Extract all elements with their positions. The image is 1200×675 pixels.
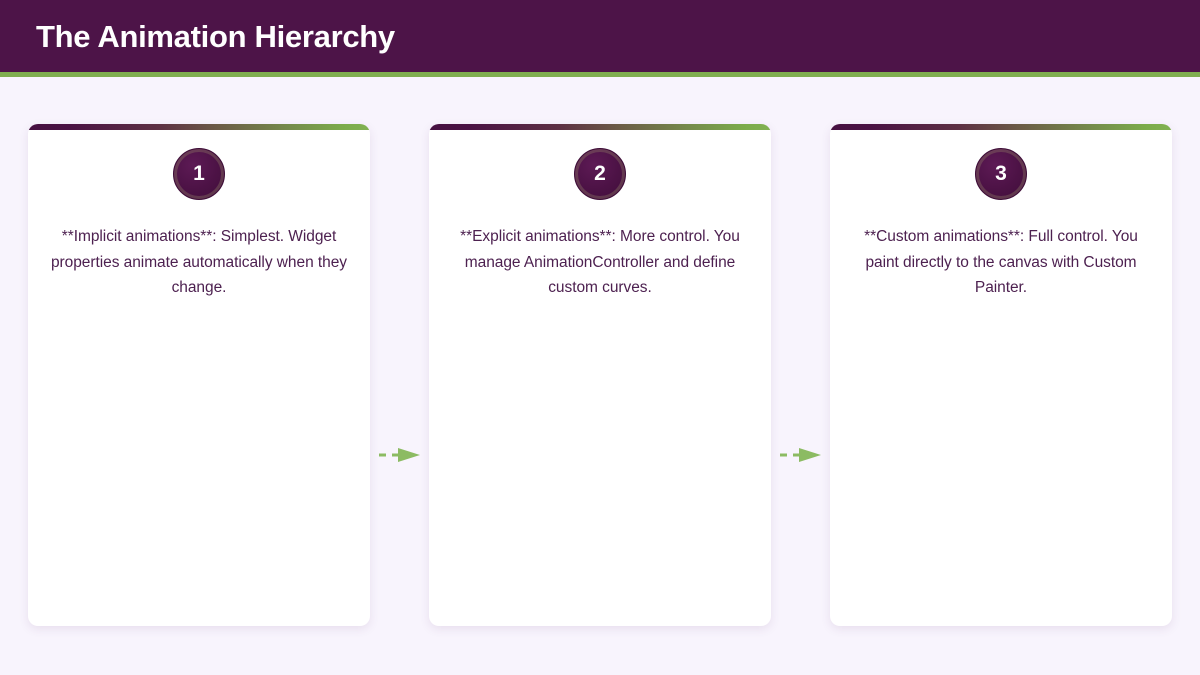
step-card-3[interactable]: 3 **Custom animations**: Full control. Y… — [830, 124, 1172, 626]
step-number-label: 3 — [995, 163, 1007, 184]
page-title: The Animation Hierarchy — [36, 21, 395, 52]
step-description: **Explicit animations**: More control. Y… — [451, 224, 749, 301]
dashed-arrow-icon — [779, 447, 825, 463]
arrow-card1-to-card2 — [378, 447, 424, 463]
step-card-2[interactable]: 2 **Explicit animations**: More control.… — [429, 124, 771, 626]
dashed-arrow-icon — [378, 447, 424, 463]
step-number-label: 1 — [193, 163, 205, 184]
step-number-badge: 2 — [574, 148, 626, 200]
arrow-card2-to-card3 — [779, 447, 825, 463]
slide-header: The Animation Hierarchy — [0, 0, 1200, 72]
step-description: **Custom animations**: Full control. You… — [852, 224, 1150, 301]
hierarchy-steps-container: 1 **Implicit animations**: Simplest. Wid… — [0, 77, 1200, 675]
step-description: **Implicit animations**: Simplest. Widge… — [50, 224, 348, 301]
step-number-badge: 1 — [173, 148, 225, 200]
step-number-label: 2 — [594, 163, 606, 184]
step-card-1[interactable]: 1 **Implicit animations**: Simplest. Wid… — [28, 124, 370, 626]
step-number-badge: 3 — [975, 148, 1027, 200]
